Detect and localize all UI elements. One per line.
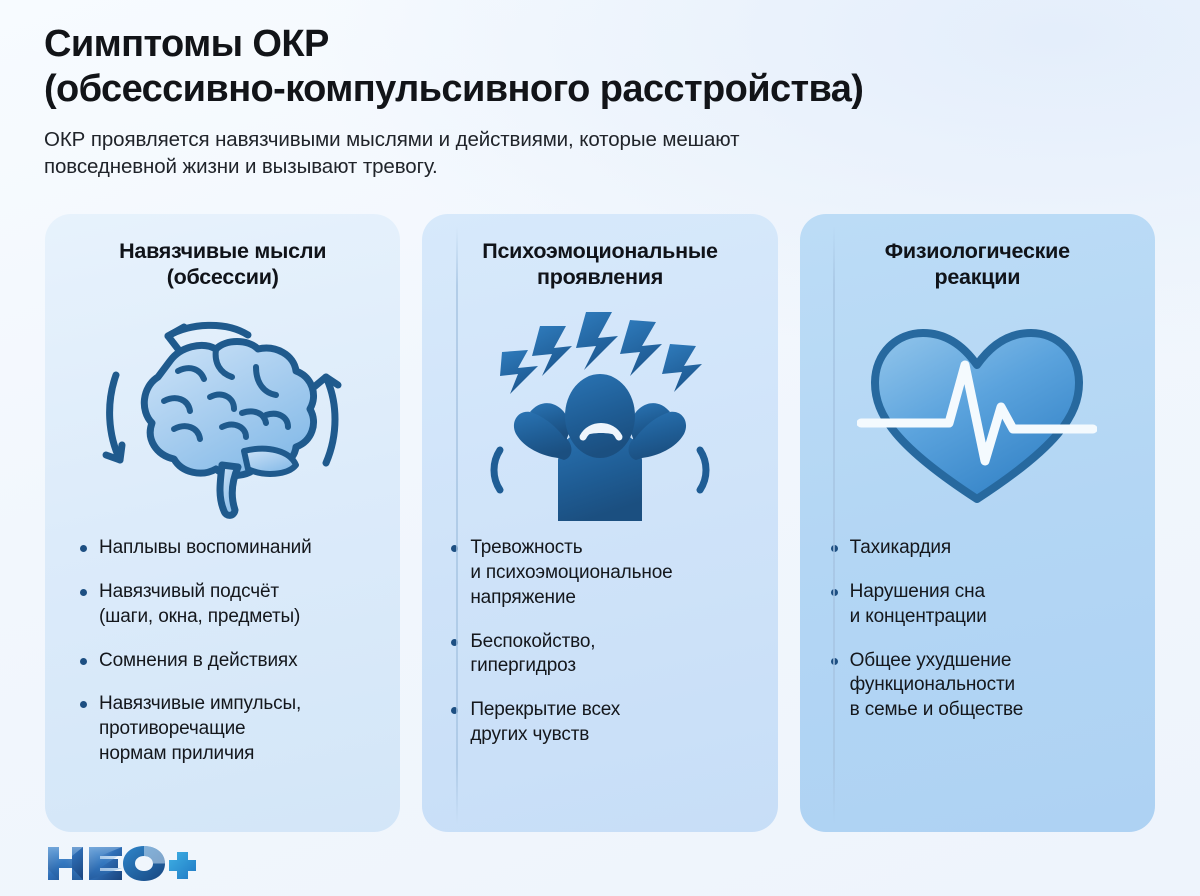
card-obsessive-thoughts: Навязчивые мысли (обсессии) bbox=[45, 214, 400, 832]
infographic-page: Симптомы ОКР (обсессивно-компульсивного … bbox=[0, 0, 1200, 896]
bullet-dot-icon bbox=[80, 589, 87, 596]
bullet-list-obsessive-thoughts: Наплывы воспоминаний Навязчивый подсчёт … bbox=[65, 534, 380, 810]
list-item: Сомнения в действиях bbox=[79, 649, 378, 674]
bullet-list-physiological: Тахикардия Нарушения сна и концентрации … bbox=[820, 534, 1135, 810]
bullet-dot-icon bbox=[80, 545, 87, 552]
list-item: Общее ухудшение функциональности в семье… bbox=[830, 649, 1133, 723]
card-separator bbox=[833, 226, 835, 824]
heart-pulse-icon bbox=[820, 296, 1135, 534]
list-item: Беспокойство, гипергидроз bbox=[450, 630, 755, 679]
list-item-text: Нарушения сна и концентрации bbox=[850, 581, 987, 627]
list-item-text: Тревожность и психоэмоциональное напряже… bbox=[470, 537, 672, 607]
list-item: Тахикардия bbox=[830, 536, 1133, 561]
list-item-text: Общее ухудшение функциональности в семье… bbox=[850, 650, 1024, 720]
brain-cycle-icon bbox=[65, 296, 380, 534]
list-item: Нарушения сна и концентрации bbox=[830, 580, 1133, 629]
list-item: Навязчивые импульсы, противоречащие норм… bbox=[79, 692, 378, 766]
page-title: Симптомы ОКР (обсессивно-компульсивного … bbox=[44, 22, 1164, 112]
page-subtitle: ОКР проявляется навязчивыми мыслями и де… bbox=[44, 126, 1064, 181]
neo-plus-logo bbox=[46, 843, 196, 883]
card-title-psychoemotional: Психоэмоциональные проявления bbox=[442, 238, 757, 290]
card-title-obsessive-thoughts: Навязчивые мысли (обсессии) bbox=[65, 238, 380, 290]
list-item: Навязчивый подсчёт (шаги, окна, предметы… bbox=[79, 580, 378, 629]
symptom-cards-row: Навязчивые мысли (обсессии) bbox=[45, 214, 1155, 832]
list-item-text: Перекрытие всех других чувств bbox=[470, 699, 620, 745]
list-item-text: Тахикардия bbox=[850, 537, 951, 558]
header: Симптомы ОКР (обсессивно-компульсивного … bbox=[44, 22, 1164, 181]
card-physiological: Физиологические реакции Т bbox=[800, 214, 1155, 832]
bullet-dot-icon bbox=[80, 701, 87, 708]
bullet-list-psychoemotional: Тревожность и психоэмоциональное напряже… bbox=[442, 534, 757, 810]
list-item: Перекрытие всех других чувств bbox=[450, 698, 755, 747]
card-title-physiological: Физиологические реакции bbox=[820, 238, 1135, 290]
stressed-person-icon bbox=[442, 296, 757, 534]
card-psychoemotional: Психоэмоциональные проявления bbox=[422, 214, 777, 832]
card-separator bbox=[456, 226, 458, 824]
list-item: Наплывы воспоминаний bbox=[79, 536, 378, 561]
list-item-text: Сомнения в действиях bbox=[99, 650, 297, 671]
bullet-dot-icon bbox=[80, 658, 87, 665]
list-item-text: Беспокойство, гипергидроз bbox=[470, 631, 595, 677]
list-item-text: Наплывы воспоминаний bbox=[99, 537, 312, 558]
list-item: Тревожность и психоэмоциональное напряже… bbox=[450, 536, 755, 610]
list-item-text: Навязчивые импульсы, противоречащие норм… bbox=[99, 693, 301, 763]
list-item-text: Навязчивый подсчёт (шаги, окна, предметы… bbox=[99, 581, 300, 627]
